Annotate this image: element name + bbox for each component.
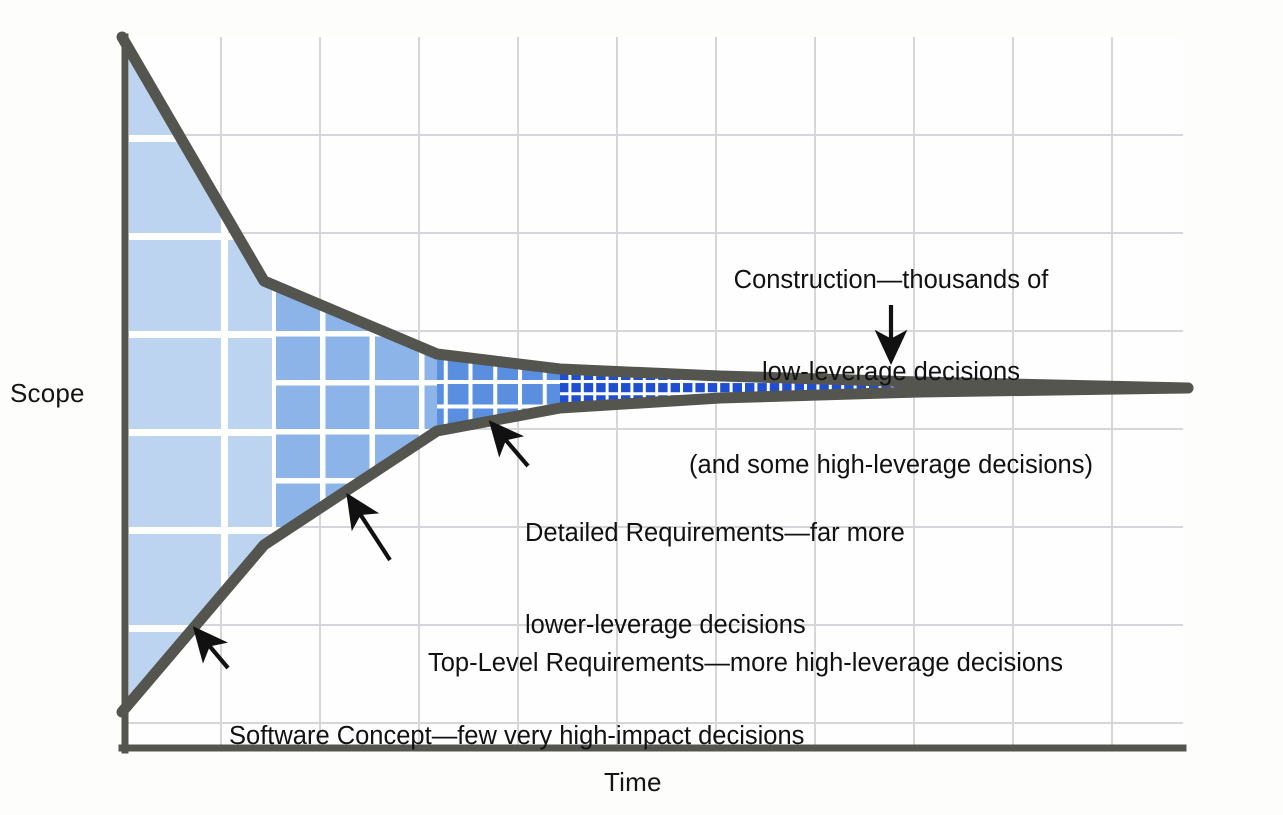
annotation-software-concept: Software Concept—few very high-impact de…: [229, 659, 804, 813]
figure-canvas: Scope Time Construction—thousands of low…: [0, 0, 1283, 815]
y-axis-label: Scope: [10, 378, 85, 409]
annotation-construction-line1: Construction—thousands of: [689, 265, 1093, 296]
annotation-software-concept-line1: Software Concept—few very high-impact de…: [229, 721, 804, 752]
annotation-construction-line2: low-leverage decisions: [689, 357, 1093, 388]
annotation-detailed-requirements-line1: Detailed Requirements—far more: [525, 518, 905, 549]
